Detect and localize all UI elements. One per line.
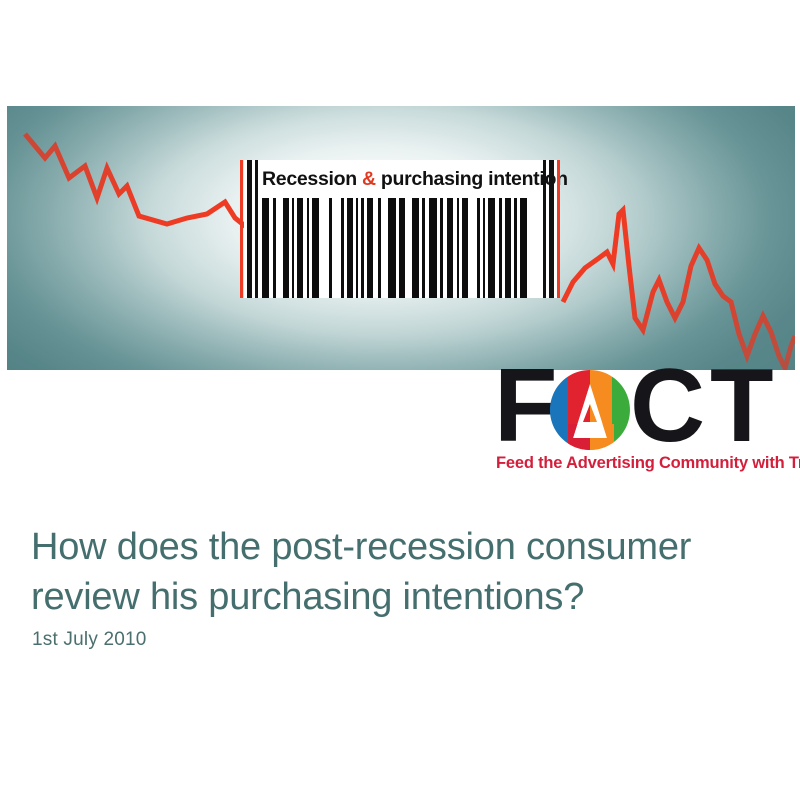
barcode-guard-bar-right-2	[543, 160, 546, 298]
a-segment-lower-red	[568, 424, 590, 450]
barcode-guard-bar-right	[549, 160, 554, 298]
barcode-bars	[262, 198, 539, 298]
logo-letter-a-icon	[547, 370, 633, 450]
decline-line-right	[563, 210, 795, 368]
logo-letter-t: T	[710, 362, 772, 450]
barcode-title-suffix: purchasing intention	[376, 168, 568, 190]
a-segment-blue	[547, 370, 568, 450]
barcode-guard-bar-left	[247, 160, 252, 298]
a-segment-lower-orange	[590, 424, 614, 450]
fact-wordmark: F C T	[492, 366, 798, 454]
slide-canvas: Recession & purchasing intention	[0, 0, 800, 800]
barcode-title: Recession & purchasing intention	[246, 168, 568, 191]
barcode-title-row: Recession & purchasing intention	[244, 160, 557, 198]
barcode-red-accent-left	[240, 160, 243, 298]
page-title-line-1: How does the post-recession consumer	[31, 522, 761, 572]
barcode-graphic: Recession & purchasing intention	[244, 160, 557, 298]
presentation-date: 1st July 2010	[32, 629, 147, 651]
page-title-line-2: review his purchasing intentions?	[31, 572, 761, 622]
logo-tagline: Feed the Advertising Community with Tren…	[496, 454, 800, 473]
barcode-red-accent-right	[557, 160, 560, 298]
barcode-title-ampersand: &	[362, 168, 376, 190]
barcode-title-prefix: Recession	[262, 168, 362, 190]
fact-logo: F C T	[492, 366, 798, 478]
logo-letter-c: C	[630, 362, 703, 450]
barcode-guard-bar-left-2	[255, 160, 258, 298]
page-title: How does the post-recession consumer rev…	[31, 522, 761, 622]
